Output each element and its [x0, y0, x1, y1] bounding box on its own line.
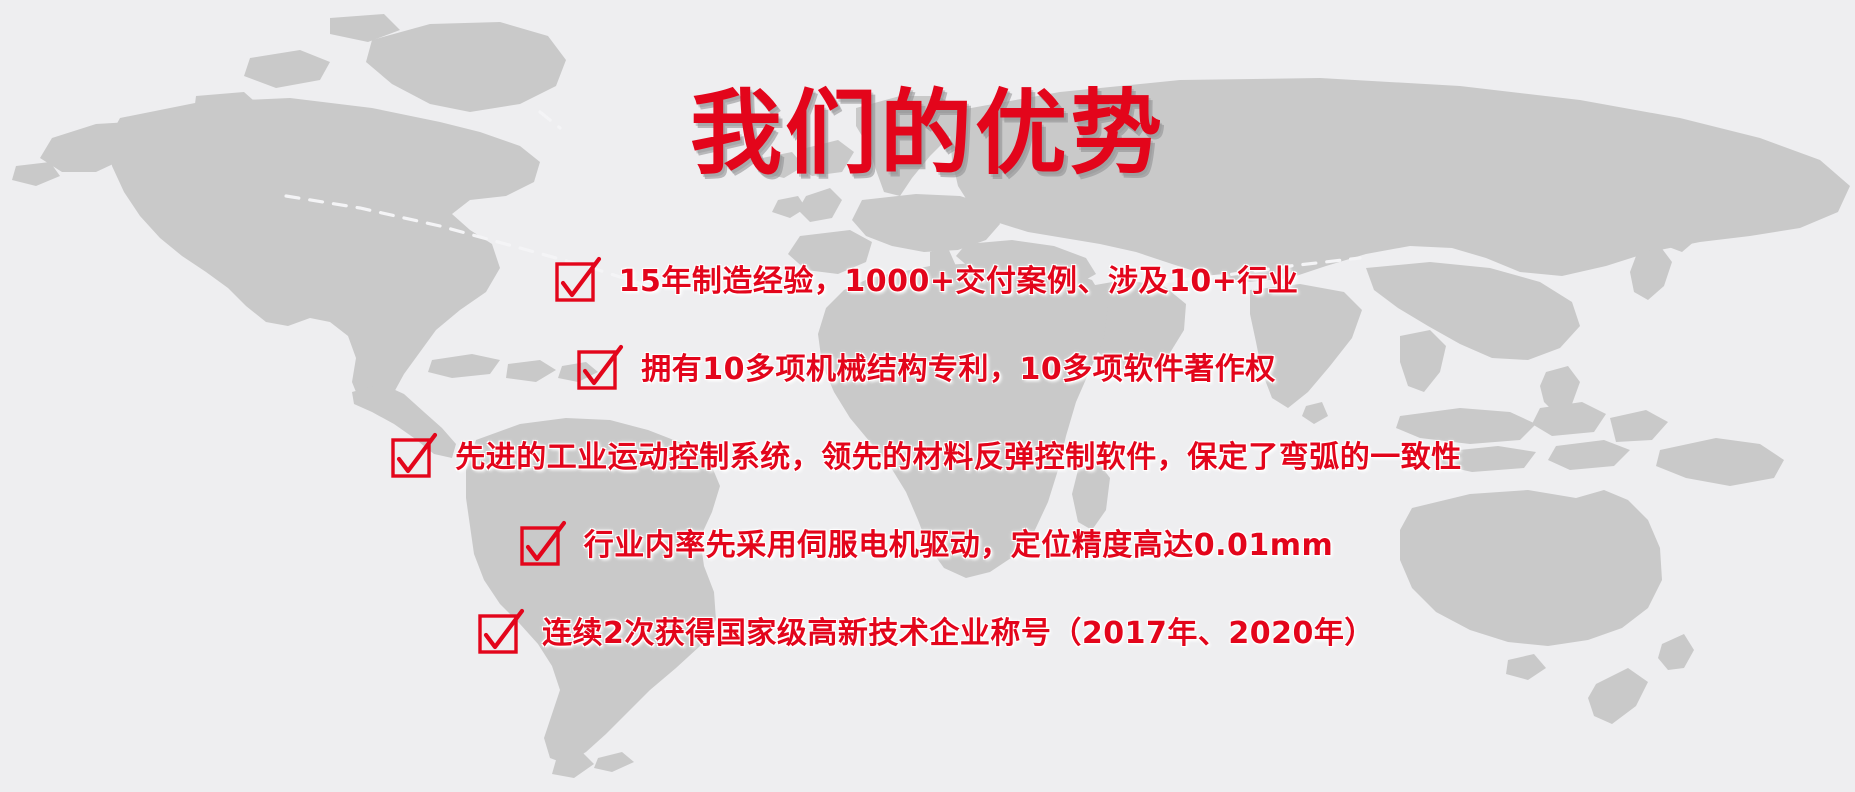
advantage-text: 先进的工业运动控制系统，领先的材料反弹控制软件，保定了弯弧的一致性 [455, 438, 1462, 478]
advantage-item-4: 行业内率先采用伺服电机驱动，定位精度高达0.01mm [0, 522, 1855, 570]
advantage-item-5: 连续2次获得国家级高新技术企业称号（2017年、2020年） [0, 610, 1855, 658]
advantage-text: 15年制造经验，1000+交付案例、涉及10+行业 [619, 262, 1299, 302]
advantages-banner: 我们的优势 15年制造经验，1000+交付案例、涉及10+行业 拥有10多项机械… [0, 0, 1855, 792]
advantage-item-2: 拥有10多项机械结构专利，10多项软件著作权 [0, 346, 1855, 394]
advantage-item-3: 先进的工业运动控制系统，领先的材料反弹控制软件，保定了弯弧的一致性 [0, 434, 1855, 482]
page-title-text: 我们的优势 [690, 82, 1165, 186]
checkbox-checked-icon [480, 614, 520, 654]
advantage-text: 拥有10多项机械结构专利，10多项软件著作权 [641, 350, 1276, 390]
advantage-text: 连续2次获得国家级高新技术企业称号（2017年、2020年） [542, 614, 1375, 654]
checkbox-checked-icon [557, 262, 597, 302]
checkbox-checked-icon [393, 438, 433, 478]
page-title: 我们的优势 [0, 82, 1855, 186]
advantage-item-1: 15年制造经验，1000+交付案例、涉及10+行业 [0, 258, 1855, 306]
advantage-text: 行业内率先采用伺服电机驱动，定位精度高达0.01mm [584, 526, 1334, 566]
advantages-list: 15年制造经验，1000+交付案例、涉及10+行业 拥有10多项机械结构专利，1… [0, 258, 1855, 658]
checkbox-checked-icon [522, 526, 562, 566]
checkbox-checked-icon [579, 350, 619, 390]
